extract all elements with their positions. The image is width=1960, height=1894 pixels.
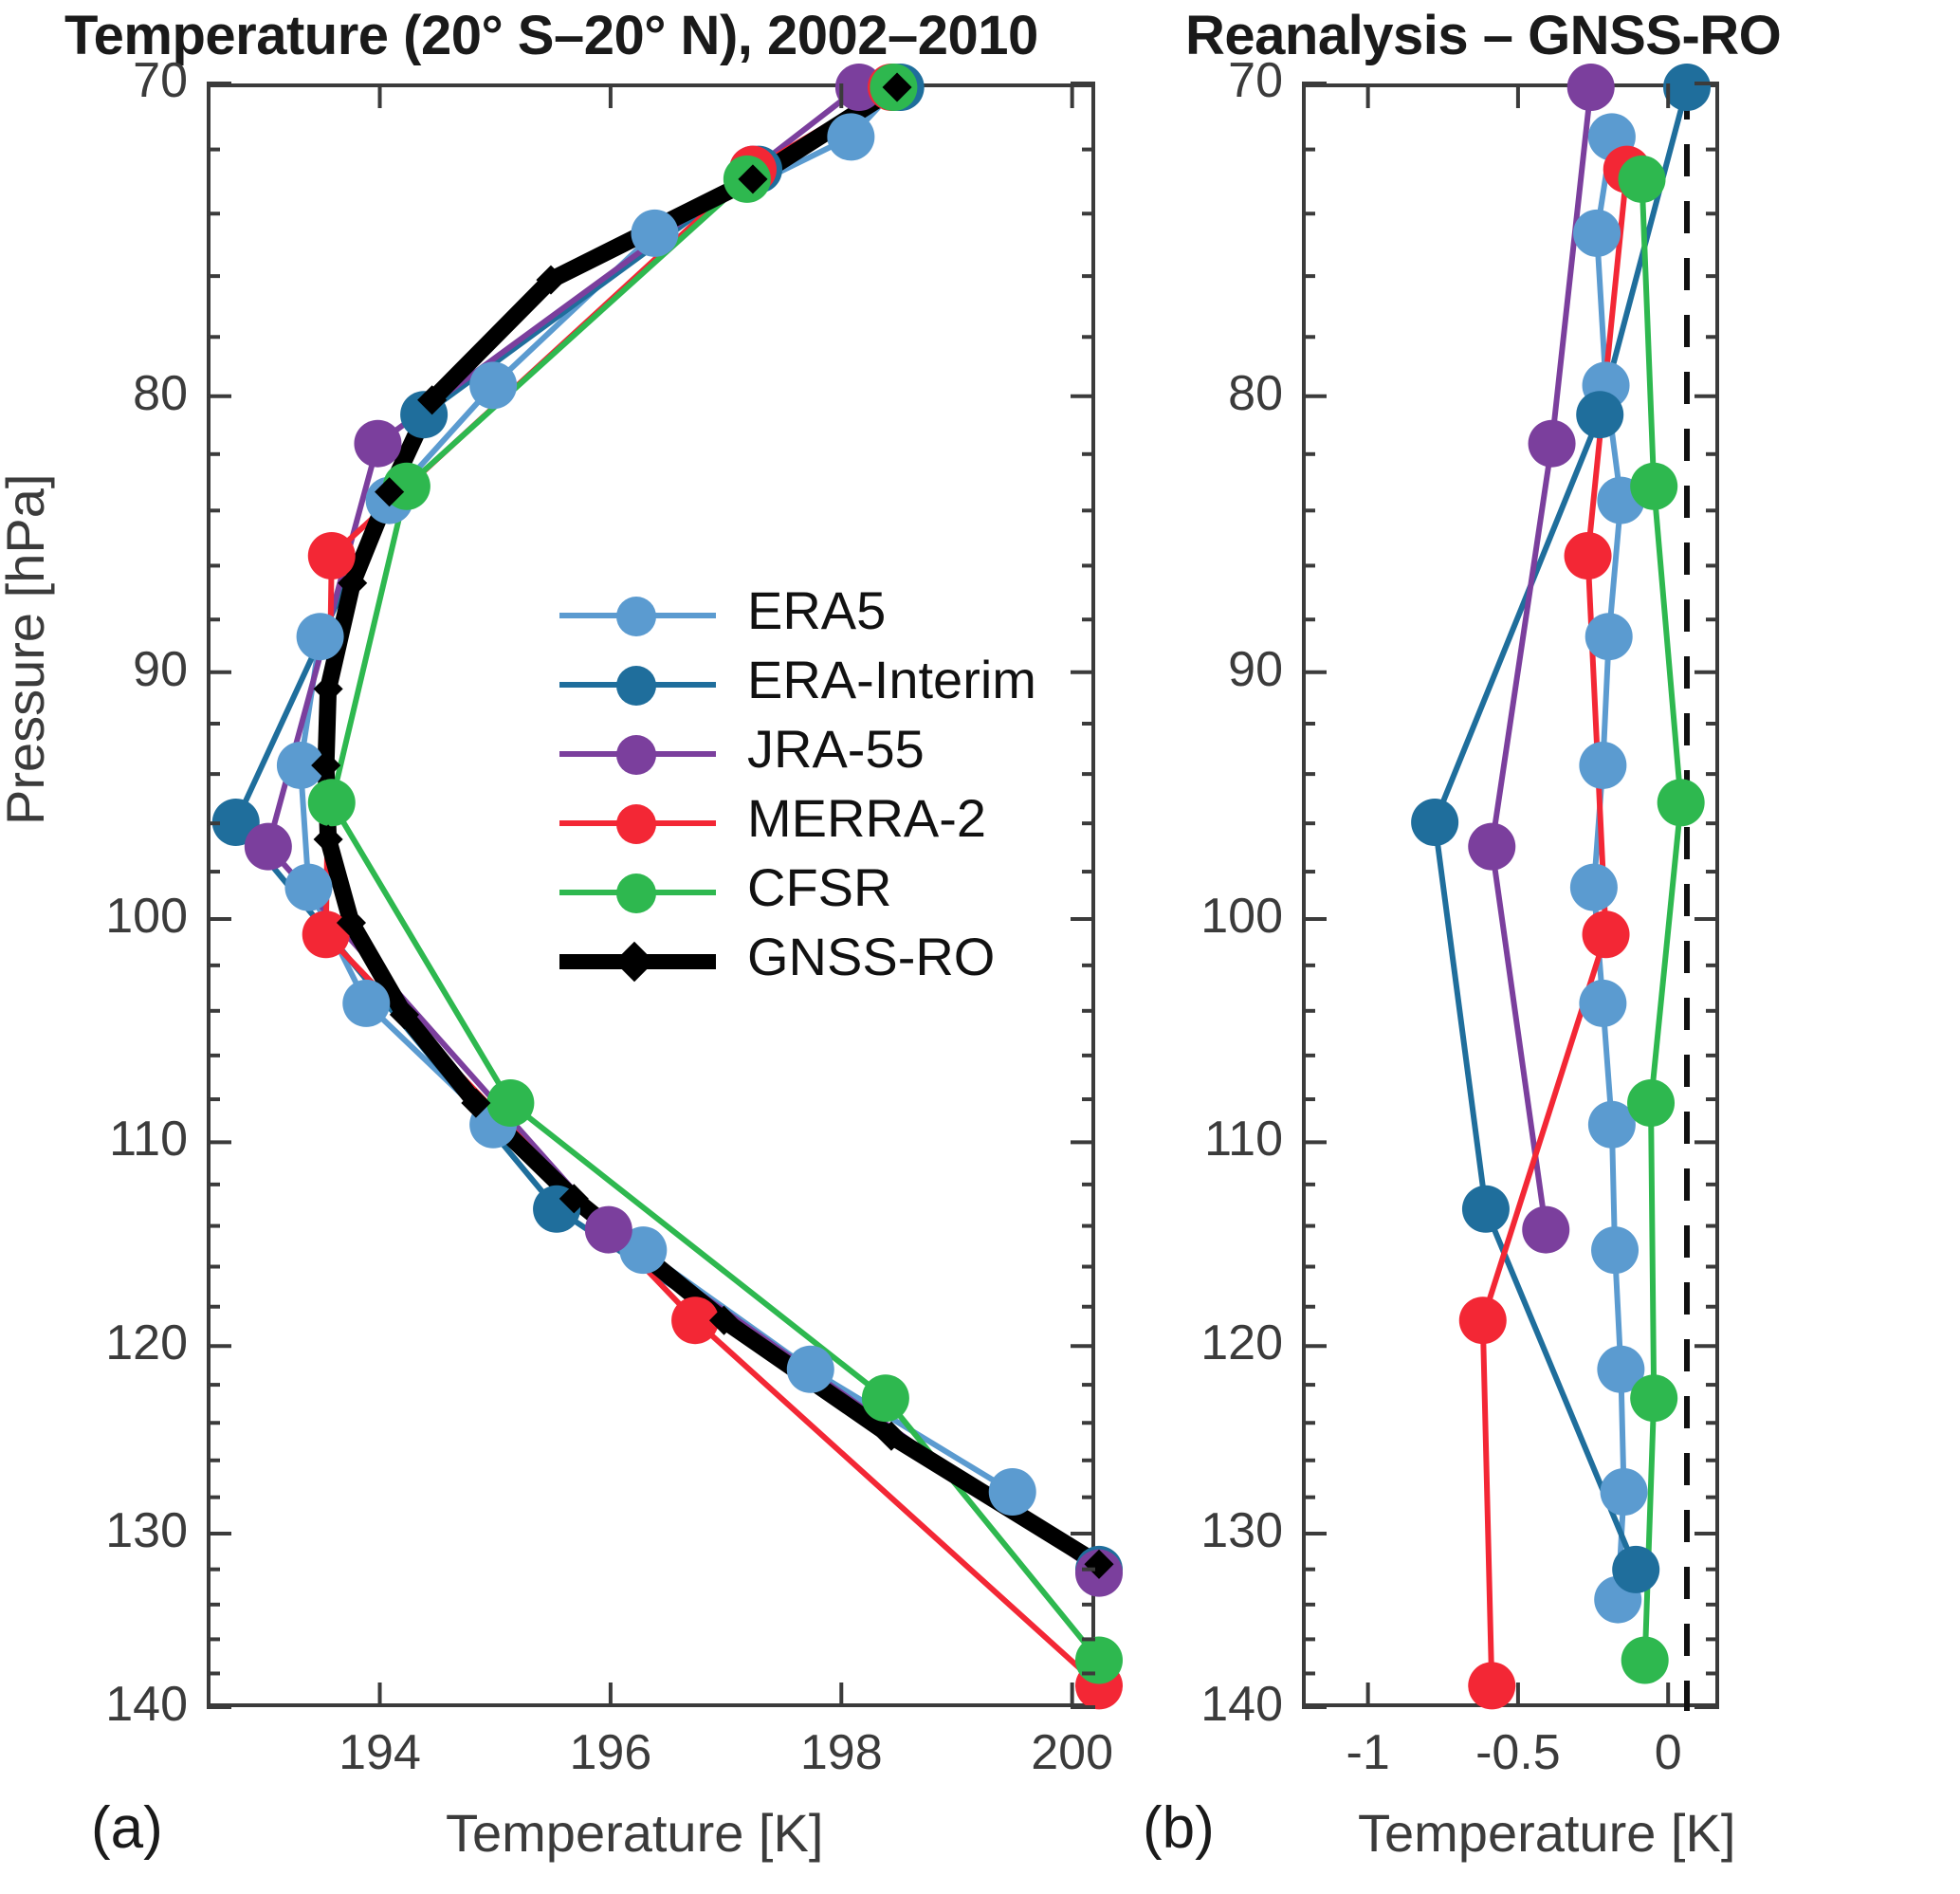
legend-circle-marker <box>616 666 656 706</box>
y-tick-label: 90 <box>17 641 188 698</box>
legend-item-merra-2: MERRA-2 <box>559 788 1072 857</box>
y-tick-label: 70 <box>1112 52 1283 109</box>
legend: ERA5ERA-InterimJRA-55MERRA-2CFSRGNSS-RO <box>559 580 1072 998</box>
x-tick-label: 196 <box>535 1724 687 1781</box>
panel-a-x-axis-label: Temperature [K] <box>446 1802 823 1864</box>
x-tick-label: 198 <box>765 1724 917 1781</box>
y-tick-label: 110 <box>1112 1111 1283 1168</box>
y-tick-label: 110 <box>17 1111 188 1168</box>
legend-item-era-interim: ERA-Interim <box>559 650 1072 719</box>
figure-root: Temperature (20° S–20° N), 2002–2010 Rea… <box>0 0 1960 1894</box>
legend-circle-marker <box>616 735 656 775</box>
y-tick-label: 130 <box>17 1502 188 1559</box>
y-tick-label: 70 <box>17 52 188 109</box>
y-tick-label: 80 <box>17 365 188 422</box>
x-tick-label: 194 <box>304 1724 456 1781</box>
y-tick-label: 140 <box>17 1676 188 1733</box>
legend-label: ERA5 <box>747 579 886 641</box>
x-tick-label: 0 <box>1592 1724 1744 1781</box>
panel-a-tag: (a) <box>91 1794 163 1862</box>
y-tick-label: 100 <box>1112 888 1283 945</box>
panel-b-tag: (b) <box>1143 1794 1215 1862</box>
x-tick-label: 200 <box>997 1724 1148 1781</box>
legend-circle-marker <box>616 597 656 636</box>
legend-item-gnss-ro: GNSS-RO <box>559 927 1072 996</box>
legend-circle-marker <box>616 804 656 844</box>
legend-item-jra-55: JRA-55 <box>559 719 1072 788</box>
y-tick-label: 120 <box>17 1315 188 1371</box>
y-tick-label: 120 <box>1112 1315 1283 1371</box>
legend-diamond-marker <box>614 942 654 982</box>
legend-label: CFSR <box>747 856 891 918</box>
y-tick-label: 100 <box>17 888 188 945</box>
x-tick-label: -0.5 <box>1442 1724 1594 1781</box>
legend-label: MERRA-2 <box>747 787 986 849</box>
panel-b-x-axis-label: Temperature [K] <box>1358 1802 1735 1864</box>
legend-item-cfsr: CFSR <box>559 857 1072 927</box>
legend-label: GNSS-RO <box>747 926 995 987</box>
legend-label: ERA-Interim <box>747 649 1036 710</box>
x-tick-label: -1 <box>1292 1724 1444 1781</box>
y-tick-label: 90 <box>1112 641 1283 698</box>
legend-item-era5: ERA5 <box>559 580 1072 650</box>
legend-label: JRA-55 <box>747 718 925 780</box>
y-tick-label: 130 <box>1112 1502 1283 1559</box>
legend-circle-marker <box>616 873 656 913</box>
y-tick-label: 80 <box>1112 365 1283 422</box>
